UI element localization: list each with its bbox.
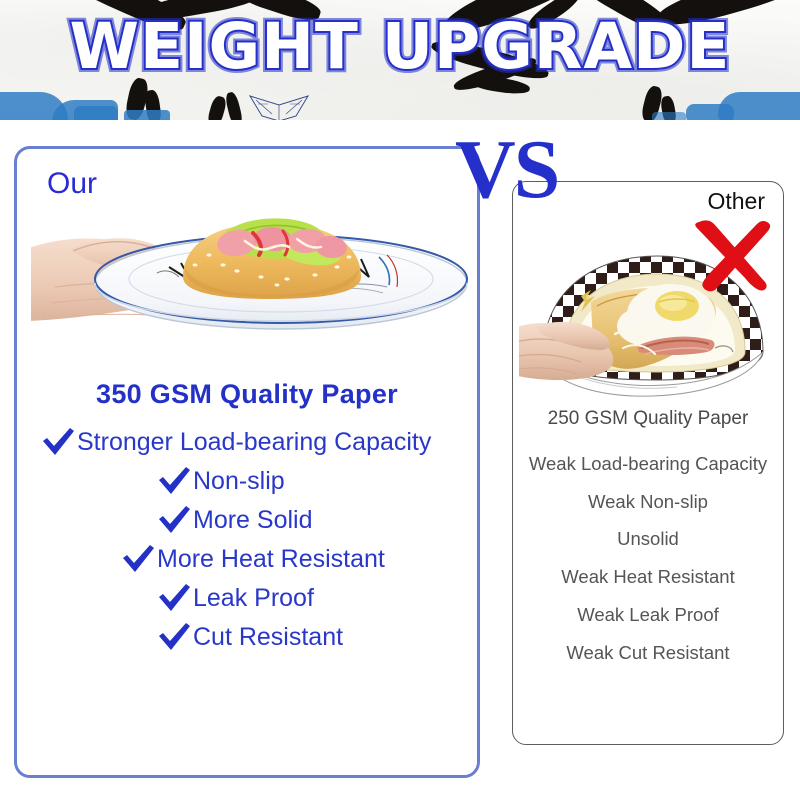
check-icon: [157, 505, 191, 535]
paint-patch: [686, 104, 734, 120]
our-feature-label: More Solid: [193, 506, 313, 535]
our-feature-row: More Solid: [17, 505, 477, 535]
header-banner: WEIGHT UPGRADE WEIGHT UPGRADE: [0, 0, 800, 120]
check-icon: [121, 544, 155, 574]
our-feature-row: Stronger Load-bearing Capacity: [17, 427, 477, 457]
our-feature-label: Non-slip: [193, 467, 285, 496]
our-feature-row: Non-slip: [17, 466, 477, 496]
check-icon: [157, 583, 191, 613]
other-feature-row: Weak Load-bearing Capacity: [513, 454, 783, 475]
banner-title: WEIGHT UPGRADE: [0, 14, 800, 80]
other-gsm-headline: 250 GSM Quality Paper: [513, 408, 783, 430]
versus-label: VS: [455, 128, 558, 212]
our-gsm-headline: 350 GSM Quality Paper: [17, 379, 477, 410]
comparison-infographic: WEIGHT UPGRADE WEIGHT UPGRADE Our: [0, 0, 800, 800]
other-feature-list: Weak Load-bearing Capacity Weak Non-slip…: [513, 454, 783, 680]
our-feature-label: Leak Proof: [193, 584, 314, 613]
our-feature-row: Cut Resistant: [17, 622, 477, 652]
red-x-icon: [691, 216, 775, 294]
other-feature-row: Weak Cut Resistant: [513, 643, 783, 664]
our-product-image: [31, 191, 469, 381]
other-feature-row: Weak Non-slip: [513, 492, 783, 513]
emblem-icon: [246, 92, 312, 120]
check-icon: [157, 622, 191, 652]
paint-patch: [652, 112, 686, 120]
paint-patch: [124, 110, 170, 120]
our-feature-list: Stronger Load-bearing Capacity Non-slip …: [17, 427, 477, 661]
paint-patch: [74, 106, 118, 120]
check-icon: [157, 466, 191, 496]
our-feature-label: Cut Resistant: [193, 623, 343, 652]
other-feature-row: Unsolid: [513, 529, 783, 550]
check-icon: [41, 427, 75, 457]
our-feature-label: More Heat Resistant: [157, 545, 385, 574]
our-feature-label: Stronger Load-bearing Capacity: [77, 428, 431, 457]
our-feature-row: More Heat Resistant: [17, 544, 477, 574]
other-panel-tag: Other: [707, 188, 765, 215]
other-feature-row: Weak Heat Resistant: [513, 567, 783, 588]
our-feature-row: Leak Proof: [17, 583, 477, 613]
other-panel: Other: [512, 181, 784, 745]
our-panel: Our: [14, 146, 480, 778]
other-feature-row: Weak Leak Proof: [513, 605, 783, 626]
